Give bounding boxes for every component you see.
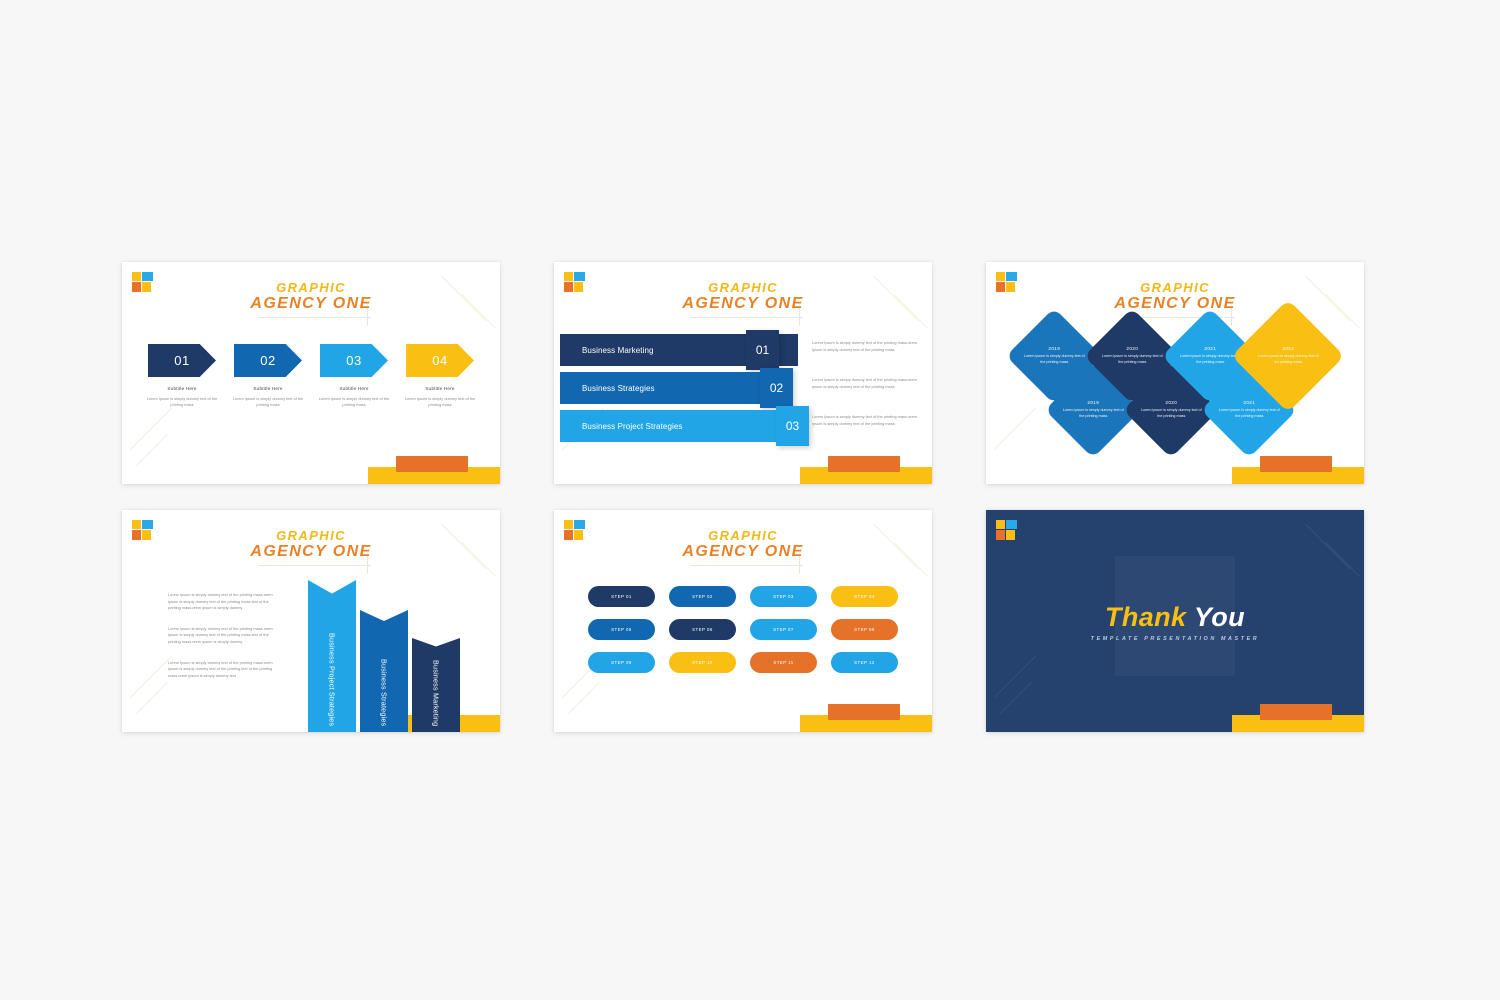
slides-grid: GRAPHIC AGENCY ONE 01 Subtitle Here Lore…	[122, 262, 1380, 732]
list-notes: Lorem Ipsum is simply dummy text of the …	[812, 340, 924, 452]
list-item-label: Business Project Strategies	[582, 422, 683, 431]
ribbon-paragraph: Lorem ipsum is simply dummy text of the …	[168, 626, 280, 646]
heading-tick	[799, 556, 800, 574]
arrow-chevron: 03	[320, 344, 388, 377]
ribbon-bars: Business Marketing Business Strategies B…	[308, 580, 468, 732]
arrow-subtitle: Subtitle Here	[144, 386, 220, 391]
arrow-step-item[interactable]: 01 Subtitle Here Lorem ipsum is simply d…	[144, 344, 220, 409]
diamond-year: 2021	[1217, 400, 1281, 405]
diamond-year: 2022	[1256, 346, 1320, 351]
diamond-text: Lorem ipsum is simply dummy text of the …	[1139, 408, 1203, 419]
thankyou-title-you: You	[1194, 602, 1245, 632]
ribbon-bar-label: Business Marketing	[412, 660, 460, 726]
arrow-description: Lorem ipsum is simply dummy text of the …	[230, 396, 306, 409]
footer-bar-orange	[1260, 704, 1332, 720]
slide-heading: GRAPHIC AGENCY ONE	[122, 280, 500, 313]
heading-line-1: GRAPHIC	[986, 280, 1364, 295]
list-item-label: Business Strategies	[582, 384, 655, 393]
slide-heading: GRAPHIC AGENCY ONE	[554, 528, 932, 561]
list-rows: Business Marketing 01 Business Strategie…	[560, 334, 798, 448]
ribbon-paragraphs: Lorem ipsum is simply dummy text of the …	[168, 592, 280, 693]
diamond-year: 2019	[1061, 400, 1125, 405]
heading-line-1: GRAPHIC	[122, 528, 500, 543]
list-item-number: 01	[746, 330, 779, 370]
slide-heading: GRAPHIC AGENCY ONE	[986, 280, 1364, 313]
step-pill[interactable]: STEP 08	[831, 619, 898, 640]
logo-mark-icon	[996, 520, 1018, 541]
arrow-subtitle: Subtitle Here	[230, 386, 306, 391]
thankyou-title: Thank You	[986, 602, 1364, 633]
arrow-description: Lorem ipsum is simply dummy text of the …	[144, 396, 220, 409]
heading-rule	[691, 565, 803, 566]
heading-tick	[799, 308, 800, 326]
slide-list[interactable]: GRAPHIC AGENCY ONE Business Marketing 01…	[554, 262, 932, 484]
step-pill[interactable]: STEP 05	[588, 619, 655, 640]
arrow-description: Lorem ipsum is simply dummy text of the …	[316, 396, 392, 409]
diamond-text: Lorem ipsum is simply dummy text of the …	[1217, 408, 1281, 419]
thankyou-title-thank: Thank	[1105, 602, 1187, 632]
decor-diagonal	[1305, 524, 1351, 570]
heading-rule	[691, 317, 803, 318]
step-pill[interactable]: STEP 04	[831, 586, 898, 607]
ribbon-paragraph: Lorem ipsum is simply dummy text of the …	[168, 592, 280, 612]
heading-rule	[259, 565, 371, 566]
diamond-text: Lorem ipsum is simply dummy text of the …	[1022, 354, 1086, 365]
arrow-step-item[interactable]: 03 Subtitle Here Lorem ipsum is simply d…	[316, 344, 392, 409]
heading-line-1: GRAPHIC	[122, 280, 500, 295]
decor-diagonal	[130, 656, 172, 698]
slide-diamonds[interactable]: GRAPHIC AGENCY ONE 2019 Lorem ipsum is s…	[986, 262, 1364, 484]
list-item-band: Business Strategies	[560, 372, 768, 404]
footer-bar-orange	[828, 456, 900, 472]
heading-line-2: AGENCY ONE	[122, 543, 500, 561]
heading-rule	[259, 317, 371, 318]
step-pill[interactable]: STEP 10	[669, 652, 736, 673]
arrow-subtitle: Subtitle Here	[316, 386, 392, 391]
diamond-chart: 2019 Lorem ipsum is simply dummy text of…	[986, 322, 1364, 482]
ribbon-bar[interactable]: Business Strategies	[360, 610, 408, 732]
step-pill[interactable]: STEP 09	[588, 652, 655, 673]
heading-tick	[367, 308, 368, 326]
arrow-step-row: 01 Subtitle Here Lorem ipsum is simply d…	[144, 344, 478, 409]
heading-line-2: AGENCY ONE	[122, 295, 500, 313]
diamond-text: Lorem ipsum is simply dummy text of the …	[1256, 354, 1320, 365]
arrow-chevron: 04	[406, 344, 474, 377]
arrow-subtitle: Subtitle Here	[402, 386, 478, 391]
diamond-text: Lorem ipsum is simply dummy text of the …	[1178, 354, 1242, 365]
step-pill-grid: STEP 01 STEP 02 STEP 03 STEP 04 STEP 05 …	[588, 586, 898, 673]
decor-diagonal	[1325, 542, 1360, 577]
list-note: Lorem Ipsum is simply dummy text of the …	[812, 340, 924, 353]
list-item-number: 02	[760, 368, 793, 408]
list-item-label: Business Marketing	[582, 346, 654, 355]
heading-line-2: AGENCY ONE	[554, 543, 932, 561]
footer-bar-orange	[828, 704, 900, 720]
list-note: Lorem Ipsum is simply dummy text of the …	[812, 414, 924, 427]
thankyou-subtitle: TEMPLATE PRESENTATION MASTER	[986, 636, 1364, 642]
heading-line-2: AGENCY ONE	[986, 295, 1364, 313]
step-pill[interactable]: STEP 12	[831, 652, 898, 673]
slide-thankyou[interactable]: Thank You TEMPLATE PRESENTATION MASTER	[986, 510, 1364, 732]
heading-line-2: AGENCY ONE	[554, 295, 932, 313]
diamond-year: 2019	[1022, 346, 1086, 351]
arrow-step-item[interactable]: 02 Subtitle Here Lorem ipsum is simply d…	[230, 344, 306, 409]
slide-steps[interactable]: GRAPHIC AGENCY ONE STEP 01 STEP 02 STEP …	[554, 510, 932, 732]
step-pill[interactable]: STEP 06	[669, 619, 736, 640]
slide-heading: GRAPHIC AGENCY ONE	[122, 528, 500, 561]
list-item[interactable]: Business Marketing 01	[560, 334, 798, 366]
step-pill[interactable]: STEP 01	[588, 586, 655, 607]
ribbon-bar[interactable]: Business Project Strategies	[308, 580, 356, 732]
diamond-year: 2020	[1139, 400, 1203, 405]
step-pill[interactable]: STEP 11	[750, 652, 817, 673]
ribbon-bar-label: Business Strategies	[360, 659, 408, 726]
slide-heading: GRAPHIC AGENCY ONE	[554, 280, 932, 313]
heading-line-1: GRAPHIC	[554, 528, 932, 543]
list-item-band: Business Project Strategies	[560, 410, 780, 442]
step-pill[interactable]: STEP 03	[750, 586, 817, 607]
ribbon-paragraph: Lorem ipsum is simply dummy text of the …	[168, 660, 280, 680]
footer-bar-orange	[396, 456, 468, 472]
decor-diagonal	[994, 656, 1036, 698]
list-item-number: 03	[776, 406, 809, 446]
list-note: Lorem Ipsum is simply dummy text of the …	[812, 377, 924, 390]
ribbon-bar[interactable]: Business Marketing	[412, 638, 460, 732]
diamond-year: 2021	[1178, 346, 1242, 351]
ribbon-bar-label: Business Project Strategies	[308, 633, 356, 726]
slide-deck-board: GRAPHIC AGENCY ONE 01 Subtitle Here Lore…	[0, 0, 1500, 1000]
decor-diagonal	[130, 408, 172, 450]
step-pill[interactable]: STEP 07	[750, 619, 817, 640]
arrow-step-item[interactable]: 04 Subtitle Here Lorem ipsum is simply d…	[402, 344, 478, 409]
arrow-description: Lorem ipsum is simply dummy text of the …	[402, 396, 478, 409]
diamond-text: Lorem ipsum is simply dummy text of the …	[1061, 408, 1125, 419]
diamond-text: Lorem ipsum is simply dummy text of the …	[1100, 354, 1164, 365]
slide-arrows[interactable]: GRAPHIC AGENCY ONE 01 Subtitle Here Lore…	[122, 262, 500, 484]
heading-tick	[367, 556, 368, 574]
heading-line-1: GRAPHIC	[554, 280, 932, 295]
step-pill[interactable]: STEP 02	[669, 586, 736, 607]
slide-ribbons[interactable]: GRAPHIC AGENCY ONE Lorem ipsum is simply…	[122, 510, 500, 732]
arrow-chevron: 02	[234, 344, 302, 377]
arrow-chevron: 01	[148, 344, 216, 377]
list-item[interactable]: Business Project Strategies 03	[560, 410, 798, 442]
diamond-year: 2020	[1100, 346, 1164, 351]
list-item[interactable]: Business Strategies 02	[560, 372, 798, 404]
